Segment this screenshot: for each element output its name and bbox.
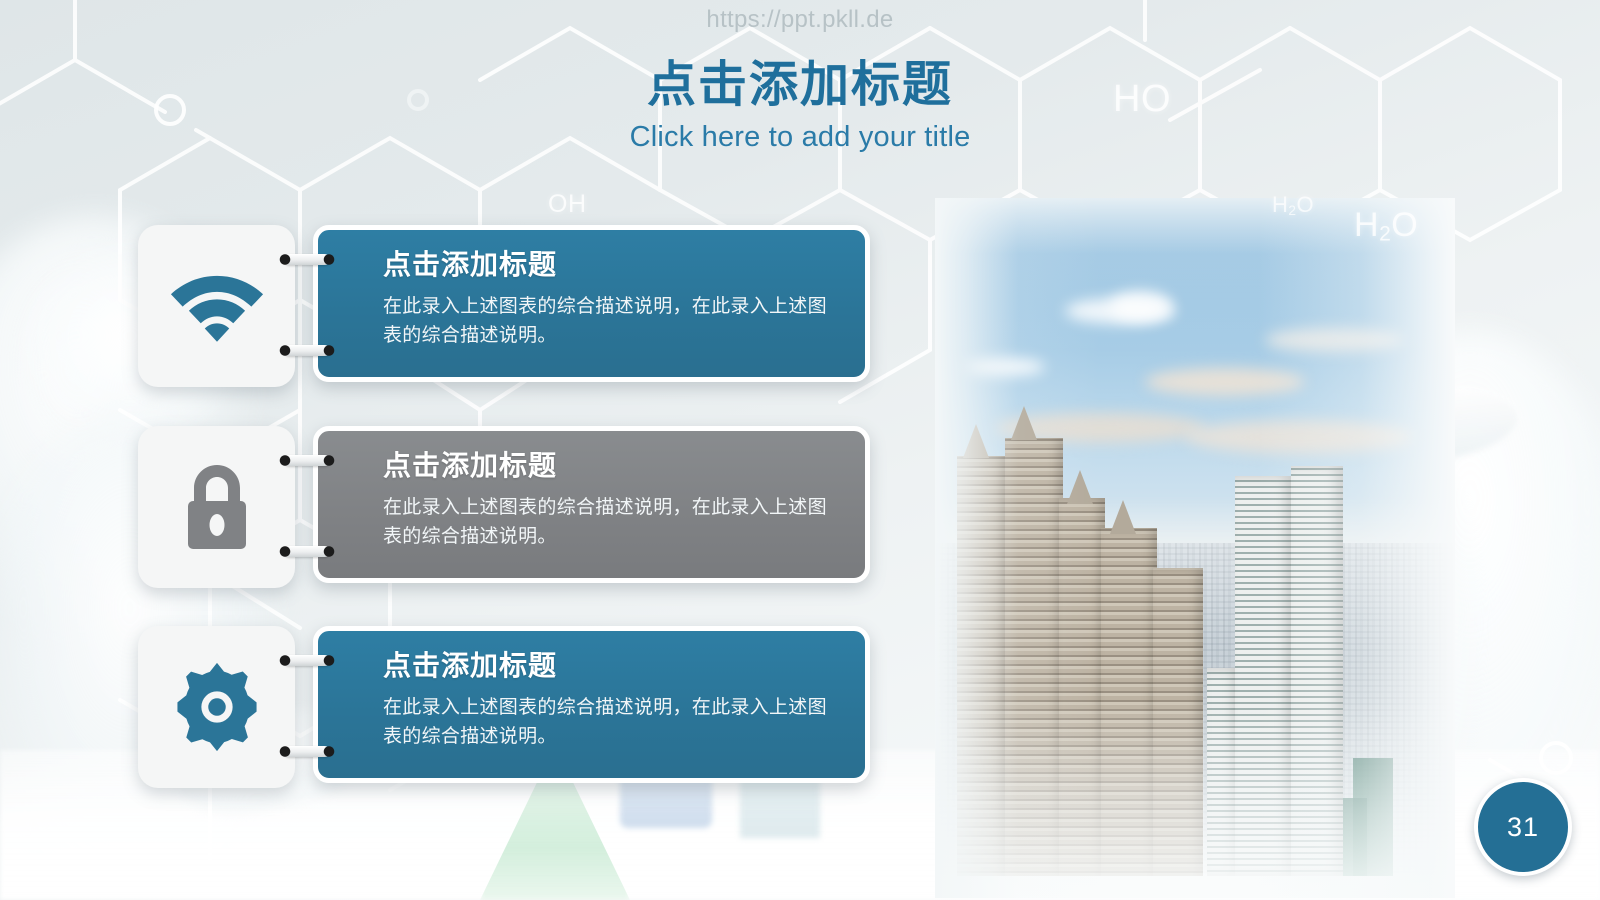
- slide-title-block: 点击添加标题 Click here to add your title: [0, 58, 1600, 154]
- source-watermark: https://ppt.pkll.de: [0, 6, 1600, 34]
- page-number-badge: 31: [1474, 778, 1572, 876]
- chem-label-oh: OH: [548, 190, 587, 219]
- card-heading: 点击添加标题: [383, 451, 839, 482]
- icon-tile-lock[interactable]: [138, 426, 295, 588]
- icon-tile-gear[interactable]: [138, 626, 295, 788]
- page-title[interactable]: 点击添加标题: [0, 58, 1600, 113]
- binder-ring-bottom: [278, 544, 336, 559]
- photo-edge-fade: [935, 198, 1455, 898]
- city-skyline-photo: [935, 198, 1455, 898]
- lock-icon: [181, 463, 253, 551]
- h2o-h: H: [1272, 192, 1288, 217]
- h2o-h: H: [1354, 206, 1379, 244]
- chem-label-h2o-small: H2O: [1272, 192, 1314, 218]
- binder-ring-bottom: [278, 744, 336, 759]
- binder-ring-bottom: [278, 343, 336, 358]
- info-card-2[interactable]: 点击添加标题 在此录入上述图表的综合描述说明，在此录入上述图表的综合描述说明。: [313, 426, 870, 583]
- card-heading: 点击添加标题: [383, 651, 839, 682]
- h2o-o: O: [1391, 206, 1418, 244]
- card-body: 在此录入上述图表的综合描述说明，在此录入上述图表的综合描述说明。: [383, 693, 835, 752]
- binder-ring-top: [278, 653, 336, 668]
- wifi-icon: [170, 268, 264, 344]
- chem-label-h2o-large: H2O: [1354, 206, 1418, 247]
- h2o-sub: 2: [1379, 223, 1391, 246]
- binder-ring-top: [278, 252, 336, 267]
- gear-icon: [171, 661, 263, 753]
- info-card-1[interactable]: 点击添加标题 在此录入上述图表的综合描述说明，在此录入上述图表的综合描述说明。: [313, 225, 870, 382]
- page-subtitle[interactable]: Click here to add your title: [0, 121, 1600, 154]
- binder-ring-top: [278, 453, 336, 468]
- card-body: 在此录入上述图表的综合描述说明，在此录入上述图表的综合描述说明。: [383, 292, 835, 351]
- h2o-o: O: [1296, 192, 1314, 217]
- info-card-3[interactable]: 点击添加标题 在此录入上述图表的综合描述说明，在此录入上述图表的综合描述说明。: [313, 626, 870, 783]
- card-heading: 点击添加标题: [383, 250, 839, 281]
- presentation-slide: https://ppt.pkll.de HO OH H2O H2O 点击添加标题…: [0, 0, 1600, 900]
- icon-tile-wifi[interactable]: [138, 225, 295, 387]
- card-body: 在此录入上述图表的综合描述说明，在此录入上述图表的综合描述说明。: [383, 493, 835, 552]
